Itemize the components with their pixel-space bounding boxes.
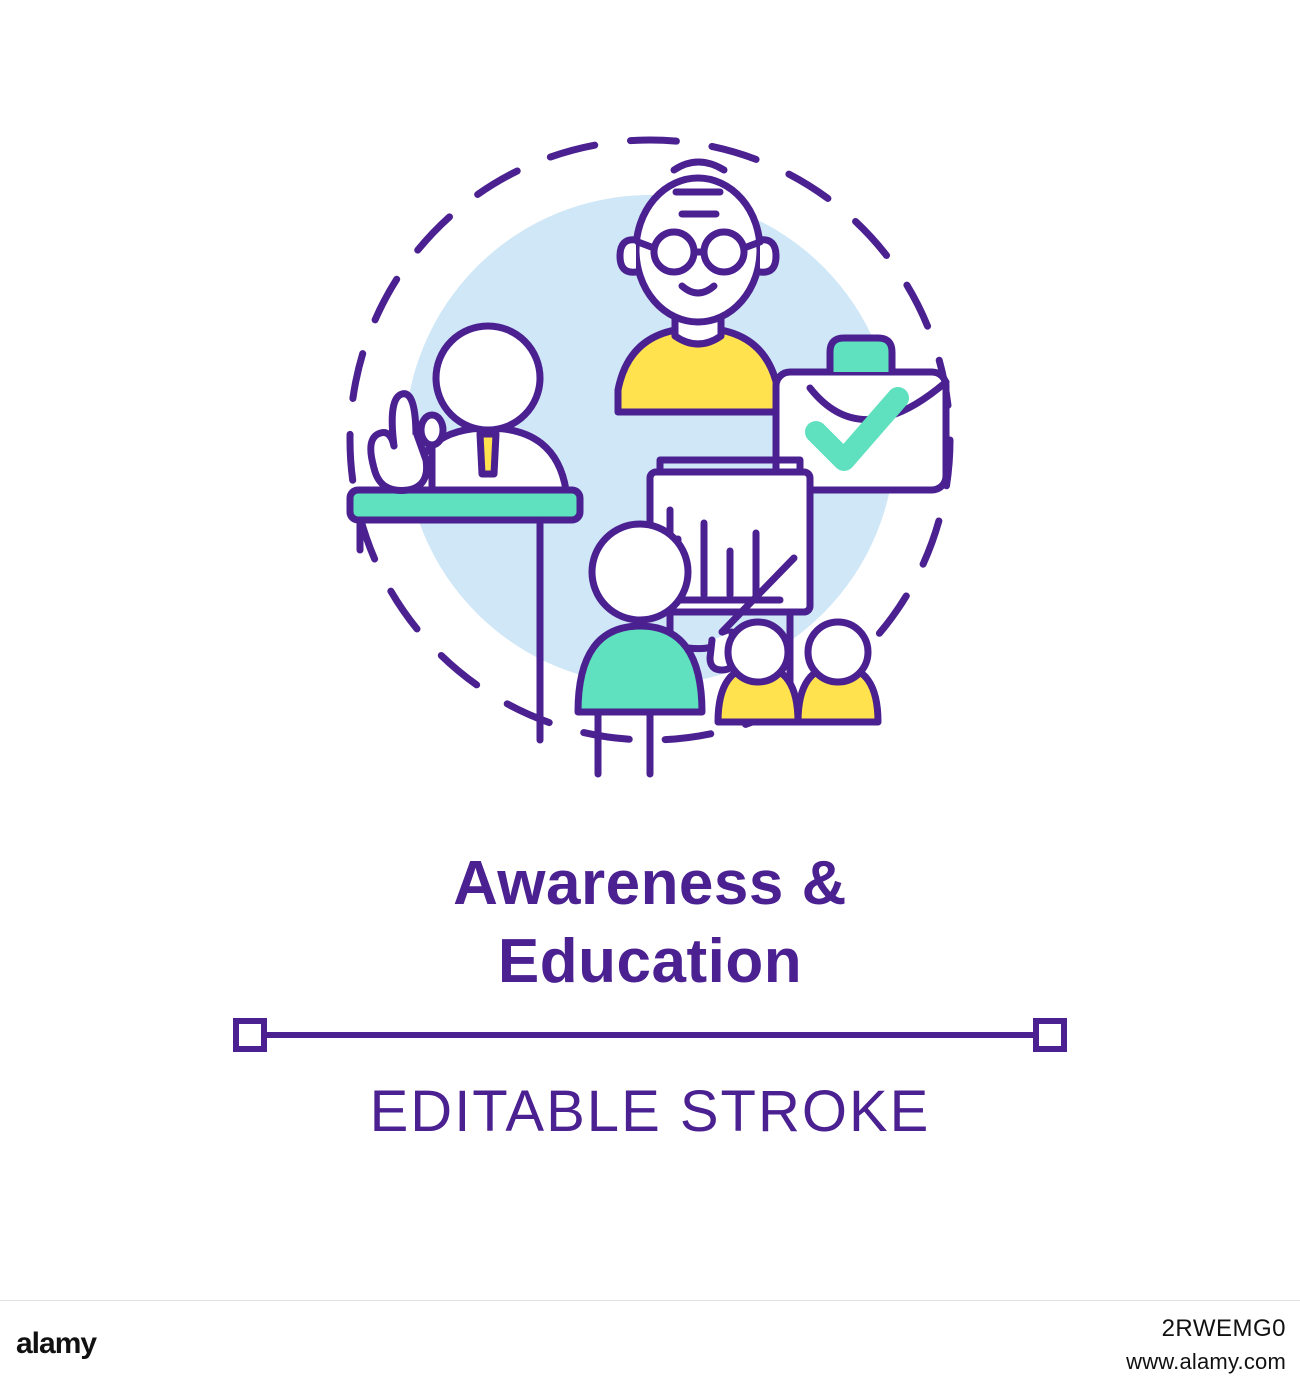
concept-illustration: [250, 100, 1050, 800]
audience-pair: [718, 622, 878, 722]
alamy-meta: 2RWEMG0 www.alamy.com: [1126, 1315, 1286, 1375]
image-id: 2RWEMG0: [1126, 1315, 1286, 1343]
title-line-1: Awareness &: [0, 845, 1300, 923]
title-line-2: Education: [0, 923, 1300, 1001]
editable-stroke-bar: [0, 1005, 1300, 1065]
concept-icon-canvas: Awareness & Education EDITABLE STROKE: [0, 0, 1300, 1300]
alamy-brand: alamy: [16, 1327, 96, 1361]
alamy-url: www.alamy.com: [1126, 1349, 1286, 1375]
editable-stroke-label: EDITABLE STROKE: [0, 1078, 1300, 1145]
concept-title: Awareness & Education: [0, 845, 1300, 1001]
alamy-watermark-footer: alamy 2RWEMG0 www.alamy.com: [0, 1300, 1300, 1391]
